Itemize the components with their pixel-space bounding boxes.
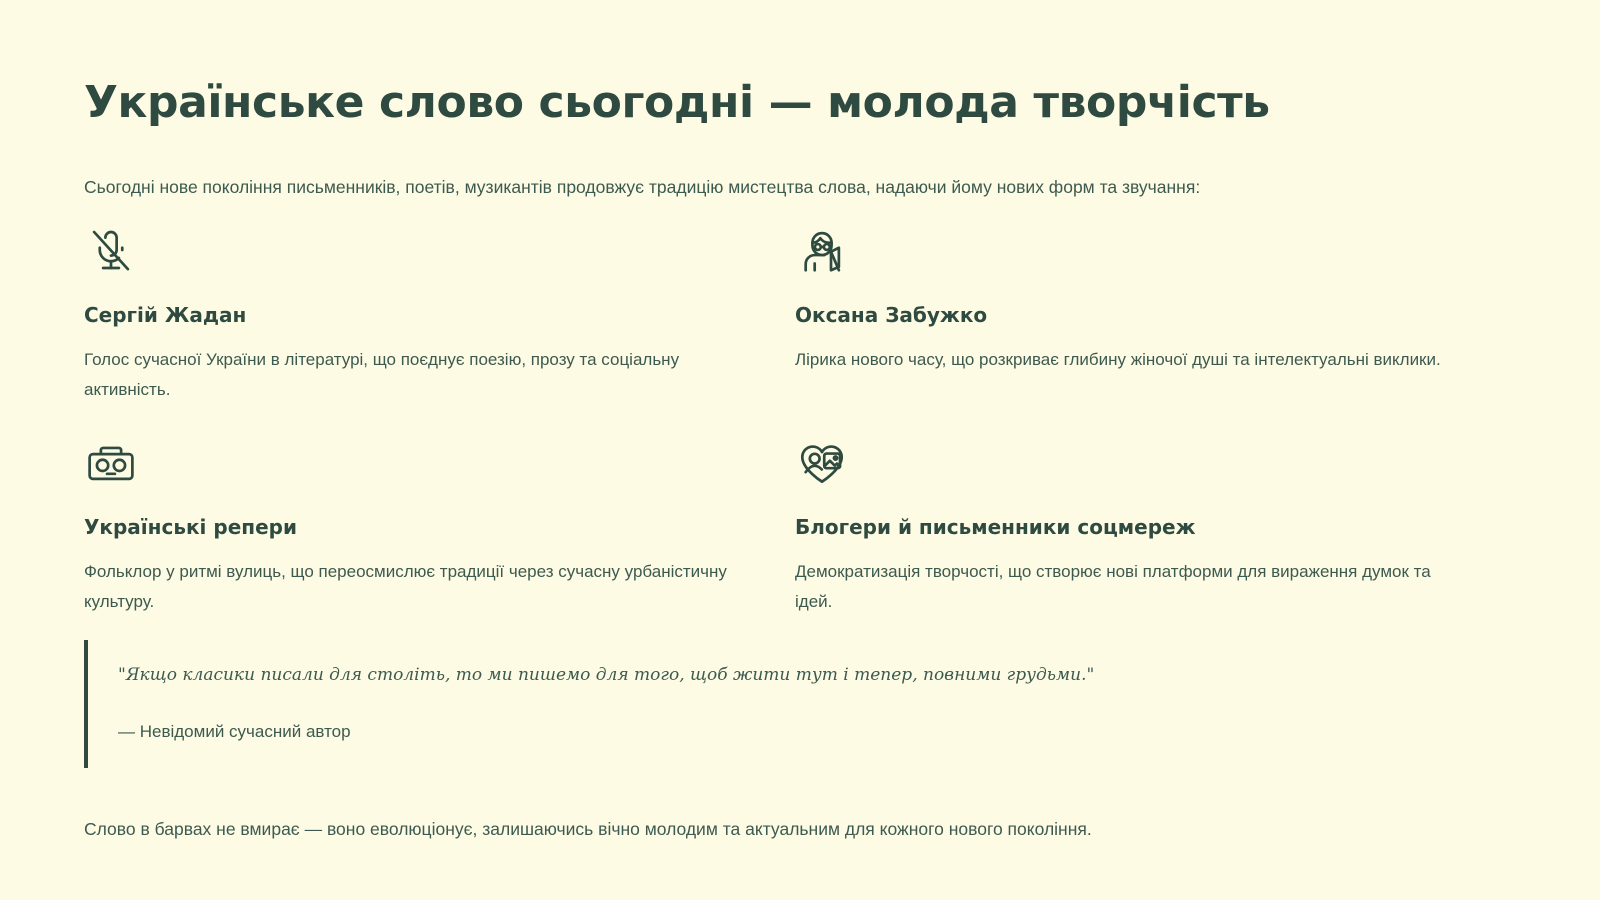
article-page: Українське слово сьогодні — молода творч…	[0, 0, 1600, 900]
feature-card-zhadan: Сергій Жадан Голос сучасної України в лі…	[84, 223, 795, 406]
feature-card-zabuzhko: Оксана Забужко Лірика нового часу, що ро…	[795, 223, 1516, 406]
pull-quote: "Якщо класики писали для століть, то ми …	[84, 640, 1218, 769]
heart-photo-icon	[795, 435, 849, 489]
quote-author: — Невідомий сучасний автор	[118, 689, 1218, 745]
feature-card-rappers: Українські репери Фольклор у ритмі вулиц…	[84, 405, 795, 618]
feature-grid: Сергій Жадан Голос сучасної України в лі…	[84, 223, 1516, 618]
feature-card-bloggers: Блогери й письменники соцмереж Демократи…	[795, 405, 1516, 618]
quote-text: "Якщо класики писали для століть, то ми …	[118, 662, 1218, 689]
feature-description: Лірика нового часу, що розкриває глибину…	[795, 328, 1455, 375]
feature-description: Фольклор у ритмі вулиць, що переосмислює…	[84, 540, 744, 618]
intro-paragraph: Сьогодні нове покоління письменників, по…	[84, 127, 1516, 200]
closing-paragraph: Слово в барвах не вмирає — воно еволюціо…	[84, 768, 1516, 842]
feature-title: Українські репери	[84, 489, 765, 540]
microphone-muted-icon	[84, 223, 138, 277]
page-title: Українське слово сьогодні — молода творч…	[84, 0, 1516, 127]
feature-description: Голос сучасної України в літературі, що …	[84, 328, 744, 406]
feature-title: Блогери й письменники соцмереж	[795, 489, 1486, 540]
writer-person-icon	[795, 223, 849, 277]
boombox-radio-icon	[84, 435, 138, 489]
feature-title: Сергій Жадан	[84, 277, 765, 328]
feature-description: Демократизація творчості, що створює нов…	[795, 540, 1455, 618]
feature-title: Оксана Забужко	[795, 277, 1486, 328]
